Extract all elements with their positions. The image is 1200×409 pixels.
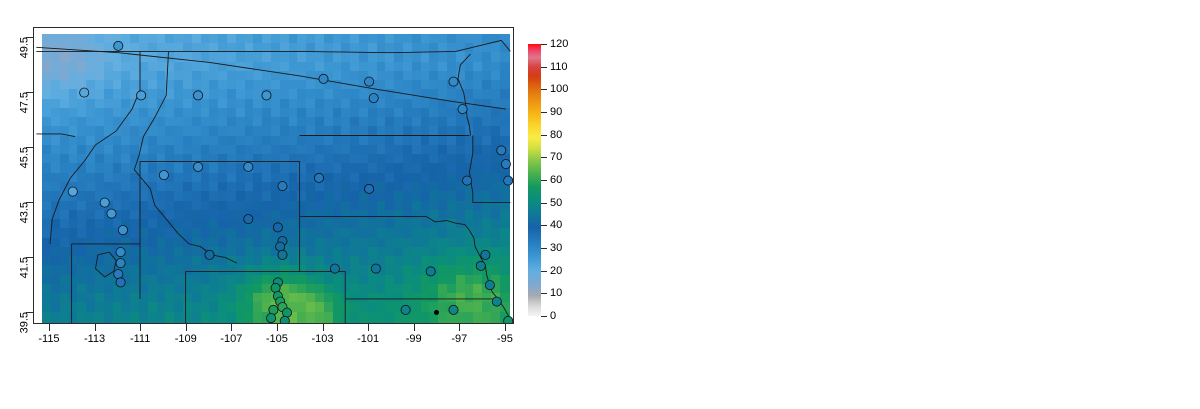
observation-marker[interactable] (267, 314, 276, 323)
model-panel: 39.541.543.545.547.549.5 -115-113-111-10… (0, 0, 600, 409)
colorbar-tick-label: 20 (550, 265, 562, 277)
observation-marker[interactable] (458, 105, 467, 114)
x-axis-tick-label: -95 (497, 333, 513, 345)
colorbar-tick (541, 293, 547, 294)
x-axis-tick (49, 324, 50, 331)
model-map-overlay (34, 28, 513, 323)
observation-marker[interactable] (137, 91, 146, 100)
model-colorbar: 0102030405060708090100110120 (528, 44, 541, 316)
bias-panel: 39.541.543.545.547.549.5 -115-113-111-10… (600, 0, 1200, 409)
observation-marker[interactable] (497, 146, 506, 155)
colorbar-tick-label: 90 (550, 106, 562, 118)
x-axis-tick (368, 324, 369, 331)
colorbar-tick (541, 157, 547, 158)
observation-marker[interactable] (319, 74, 328, 83)
observation-marker[interactable] (116, 248, 125, 257)
y-axis-tick-label: 47.5 (18, 92, 30, 113)
observation-marker[interactable] (276, 242, 285, 251)
state-boundary (50, 51, 140, 244)
x-axis-tick-label: -113 (84, 333, 105, 345)
colorbar-tick (541, 316, 547, 317)
state-boundary (96, 252, 117, 277)
observation-marker[interactable] (114, 270, 123, 279)
x-axis-tick-label: -105 (266, 333, 288, 345)
colorbar-tick (541, 44, 547, 45)
observation-marker[interactable] (278, 182, 287, 191)
colorbar-tick-label: 60 (550, 174, 562, 186)
observation-marker[interactable] (273, 223, 282, 232)
model-map-plot[interactable] (33, 27, 514, 324)
observation-marker[interactable] (481, 250, 490, 259)
observation-marker[interactable] (371, 264, 380, 273)
colorbar-tick-label: 40 (550, 219, 562, 231)
colorbar-tick-label: 120 (550, 38, 568, 50)
y-axis-tick-label: 43.5 (18, 202, 30, 223)
observation-marker[interactable] (401, 305, 410, 314)
observation-marker[interactable] (369, 94, 378, 103)
observation-marker[interactable] (492, 297, 501, 306)
x-axis-tick (323, 324, 324, 331)
observation-marker[interactable] (504, 176, 513, 185)
observation-marker[interactable] (194, 162, 203, 171)
observation-marker[interactable] (262, 91, 271, 100)
state-boundary (36, 134, 75, 137)
state-boundary (36, 47, 506, 109)
observation-marker[interactable] (194, 91, 203, 100)
aqs-dot-icon (434, 310, 439, 315)
colorbar-tick-label: 100 (550, 83, 568, 95)
observation-marker[interactable] (330, 264, 339, 273)
x-axis-tick (186, 324, 187, 331)
x-axis-tick-label: -97 (451, 333, 467, 345)
colorbar-tick-label: 50 (550, 197, 562, 209)
colorbar-tick (541, 67, 547, 68)
state-boundary (134, 51, 237, 263)
y-axis-tick-label: 45.5 (18, 147, 30, 168)
colorbar-tick-label: 30 (550, 242, 562, 254)
observation-marker[interactable] (271, 283, 280, 292)
observation-marker[interactable] (68, 187, 77, 196)
colorbar-tick (541, 89, 547, 90)
observation-marker[interactable] (365, 184, 374, 193)
x-axis-tick-label: -99 (406, 333, 422, 345)
observation-marker[interactable] (107, 209, 116, 218)
observation-marker[interactable] (278, 250, 287, 259)
observation-marker[interactable] (504, 316, 513, 323)
observation-marker[interactable] (80, 88, 89, 97)
observation-marker[interactable] (280, 316, 289, 323)
y-axis-tick-label: 39.5 (18, 312, 30, 333)
x-axis-tick-label: -101 (357, 333, 379, 345)
observation-marker[interactable] (314, 173, 323, 182)
observation-marker[interactable] (205, 250, 214, 259)
model-colorbar-gradient (528, 44, 541, 316)
colorbar-tick-label: 80 (550, 129, 562, 141)
observation-marker[interactable] (100, 198, 109, 207)
colorbar-tick-label: 70 (550, 151, 562, 163)
x-axis-tick (414, 324, 415, 331)
observation-marker[interactable] (244, 162, 253, 171)
colorbar-tick-label: 10 (550, 287, 562, 299)
colorbar-tick (541, 225, 547, 226)
x-axis-tick (231, 324, 232, 331)
colorbar-tick (541, 180, 547, 181)
model-x-axis: -115-113-111-109-107-105-103-101-99-97-9… (33, 324, 514, 354)
x-axis-tick (505, 324, 506, 331)
colorbar-tick (541, 248, 547, 249)
observation-marker[interactable] (116, 259, 125, 268)
y-axis-tick-label: 49.5 (18, 37, 30, 58)
observation-marker[interactable] (244, 215, 253, 224)
x-axis-tick (277, 324, 278, 331)
colorbar-tick (541, 112, 547, 113)
observation-marker[interactable] (365, 77, 374, 86)
x-axis-tick (95, 324, 96, 331)
observation-marker[interactable] (159, 171, 168, 180)
observation-marker[interactable] (463, 176, 472, 185)
colorbar-tick (541, 135, 547, 136)
observation-marker[interactable] (476, 261, 485, 270)
colorbar-tick-label: 110 (550, 61, 568, 73)
observation-marker[interactable] (118, 226, 127, 235)
observation-marker[interactable] (114, 41, 123, 50)
observation-marker[interactable] (269, 305, 278, 314)
y-axis-tick-label: 41.5 (18, 257, 30, 278)
colorbar-tick-label: 0 (550, 310, 556, 322)
observation-marker[interactable] (282, 308, 291, 317)
state-boundary (469, 136, 472, 203)
observation-marker[interactable] (501, 160, 510, 169)
observation-marker[interactable] (449, 77, 458, 86)
x-axis-tick-label: -103 (311, 333, 333, 345)
x-axis-tick-label: -111 (130, 333, 150, 345)
state-boundary (458, 54, 471, 135)
state-boundary (36, 40, 510, 52)
x-axis-tick (459, 324, 460, 331)
x-axis-tick-label: -109 (175, 333, 197, 345)
colorbar-tick (541, 203, 547, 204)
x-axis-tick (140, 324, 141, 331)
x-axis-tick-label: -115 (38, 333, 59, 345)
observation-marker[interactable] (485, 281, 494, 290)
observation-marker[interactable] (449, 305, 458, 314)
observation-marker[interactable] (426, 267, 435, 276)
model-field-wrapper (34, 28, 513, 323)
observation-marker[interactable] (116, 278, 125, 287)
colorbar-tick (541, 271, 547, 272)
state-boundary (300, 216, 456, 223)
aqs-legend-model (434, 310, 442, 315)
x-axis-tick-label: -107 (220, 333, 242, 345)
model-y-axis: 39.541.543.545.547.549.5 (0, 27, 33, 324)
